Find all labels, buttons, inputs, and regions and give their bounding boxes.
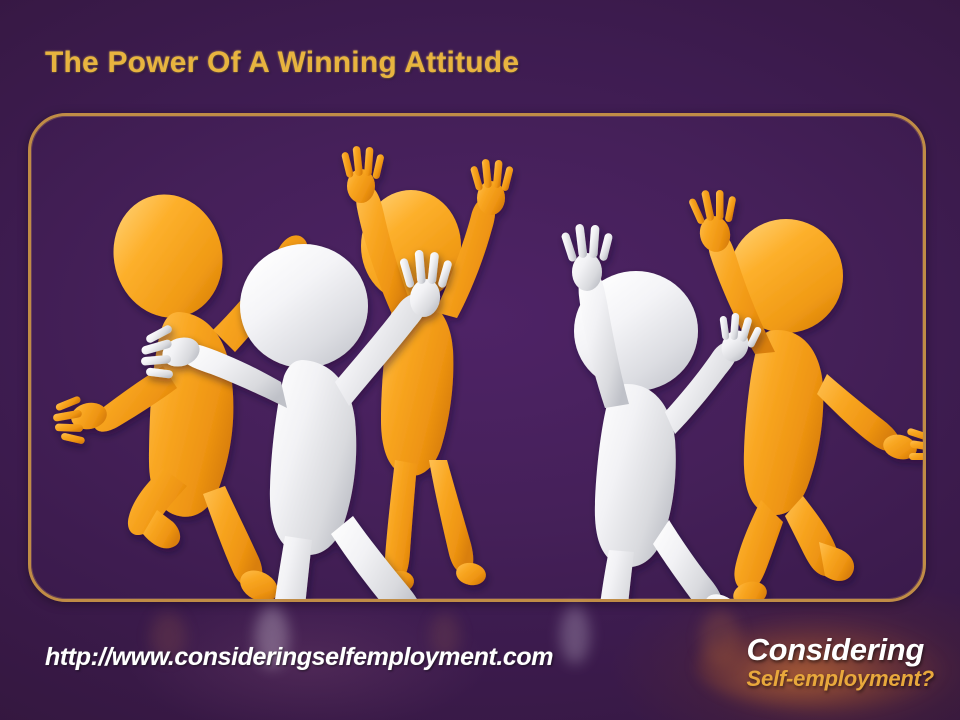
logo-secondary-text: Self-employment? xyxy=(747,668,935,690)
slide-canvas: The Power Of A Winning Attitude xyxy=(0,0,960,720)
website-url[interactable]: http://www.consideringselfemployment.com xyxy=(45,643,553,672)
brand-logo: Considering Self-employment? xyxy=(747,634,935,690)
image-frame-inner xyxy=(31,116,923,599)
celebrating-figures-illustration xyxy=(31,116,926,602)
figure-5-orange-right xyxy=(688,190,926,602)
page-title: The Power Of A Winning Attitude xyxy=(45,46,519,80)
logo-primary-text: Considering xyxy=(747,634,935,665)
image-frame xyxy=(28,113,926,602)
